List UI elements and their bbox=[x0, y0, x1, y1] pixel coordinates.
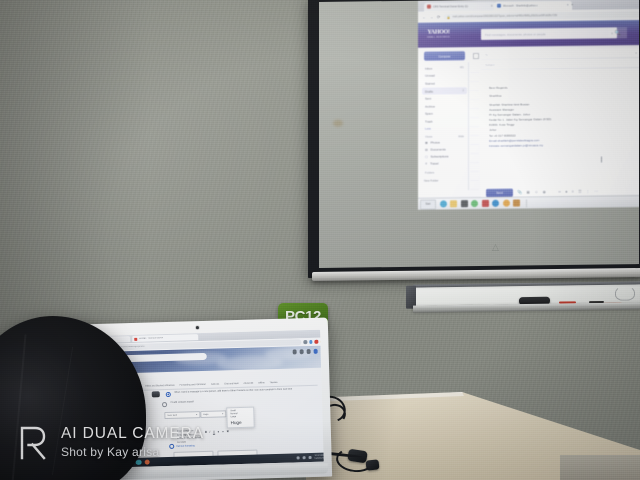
projection-sheen bbox=[418, 0, 639, 210]
screen-surface: CRS Terminal Owner Entry (1) ✕ Microsoft… bbox=[319, 0, 639, 268]
camera-watermark: AI DUAL CAMERA Shot by Kay arisa bbox=[18, 424, 204, 460]
extension-icon[interactable] bbox=[309, 340, 312, 343]
tab-themes[interactable]: Themes bbox=[270, 382, 278, 384]
webcam-icon bbox=[196, 326, 199, 329]
help-icon[interactable] bbox=[292, 349, 297, 354]
tab-addons[interactable]: Add-ons bbox=[211, 384, 219, 386]
chevron-down-icon: ▾ bbox=[222, 412, 223, 415]
tab-offline[interactable]: Offline bbox=[258, 382, 264, 384]
extension-icon[interactable] bbox=[304, 340, 307, 343]
size-option-huge[interactable]: Huge bbox=[227, 418, 253, 426]
chrome-icon[interactable] bbox=[144, 459, 150, 465]
apps-grid-icon[interactable] bbox=[306, 349, 311, 354]
floor bbox=[560, 455, 640, 480]
font-size-value: Huge bbox=[203, 413, 208, 415]
underline-icon[interactable]: U bbox=[213, 430, 215, 434]
realme-logo-icon bbox=[18, 424, 48, 460]
battery-icon[interactable] bbox=[308, 456, 312, 460]
text-color-icon[interactable]: ● bbox=[217, 430, 219, 434]
tab-chat-meet[interactable]: Chat and Meet bbox=[224, 383, 238, 385]
wall-hook bbox=[615, 285, 635, 300]
link-icon[interactable]: ∞ bbox=[222, 429, 224, 433]
font-family-select[interactable]: Sans Serif ▾ bbox=[164, 411, 200, 419]
row-value: I'll add contacts myself bbox=[171, 401, 194, 405]
whiteboard bbox=[413, 281, 640, 315]
font-select-value: Sans Serif bbox=[167, 414, 177, 416]
clock-date: 13/9/2021 bbox=[314, 457, 323, 460]
projector-screen: CRS Terminal Owner Entry (1) ✕ Microsoft… bbox=[308, 0, 640, 282]
photo-scene: CRS Terminal Owner Entry (1) ✕ Microsoft… bbox=[0, 0, 640, 480]
clock[interactable]: 10:42 AM 13/9/2021 bbox=[314, 455, 323, 460]
tab-advanced[interactable]: Advanced bbox=[244, 383, 254, 385]
italic-icon[interactable]: I bbox=[209, 430, 210, 434]
radio-option[interactable] bbox=[162, 402, 167, 407]
radio-option[interactable] bbox=[166, 392, 171, 397]
watermark-line2: Shot by Kay arisa bbox=[61, 446, 204, 458]
gear-icon[interactable] bbox=[299, 349, 304, 354]
screen-stain bbox=[333, 120, 343, 127]
watermark-text: AI DUAL CAMERA Shot by Kay arisa bbox=[61, 426, 204, 458]
volume-icon[interactable] bbox=[302, 456, 306, 460]
font-size-select[interactable]: Huge ▾ bbox=[200, 410, 226, 418]
wifi-icon[interactable] bbox=[296, 456, 300, 460]
watermark-line1: AI DUAL CAMERA bbox=[61, 426, 204, 442]
gmail-app-controls bbox=[292, 349, 318, 354]
tab-filters[interactable]: Filters and Blocked Addresses bbox=[145, 385, 174, 388]
chevron-down-icon: ▾ bbox=[196, 413, 197, 416]
screen-mark: △ bbox=[492, 242, 501, 252]
font-size-dropdown[interactable]: Small Normal Large Huge bbox=[226, 407, 255, 428]
row-value: When I send a message to a new person, a… bbox=[174, 389, 292, 396]
tab-forwarding[interactable]: Forwarding and POP/IMAP bbox=[180, 384, 206, 387]
system-tray: 10:42 AM 13/9/2021 bbox=[296, 454, 323, 460]
projected-browser-window: CRS Terminal Owner Entry (1) ✕ Microsoft… bbox=[418, 0, 639, 210]
format-toolbar: B I U ● ∞ ✖ bbox=[205, 429, 229, 434]
favicon bbox=[134, 337, 137, 340]
avatar[interactable] bbox=[313, 349, 318, 354]
extension-icon[interactable] bbox=[315, 340, 318, 343]
settings-row-images-alt: I'll add contacts myself bbox=[162, 401, 194, 407]
remove-format-icon[interactable]: ✖ bbox=[226, 429, 229, 433]
bold-icon[interactable]: B bbox=[205, 430, 207, 434]
tab-title: Settings - Sharlizai Busian bbox=[139, 337, 163, 340]
